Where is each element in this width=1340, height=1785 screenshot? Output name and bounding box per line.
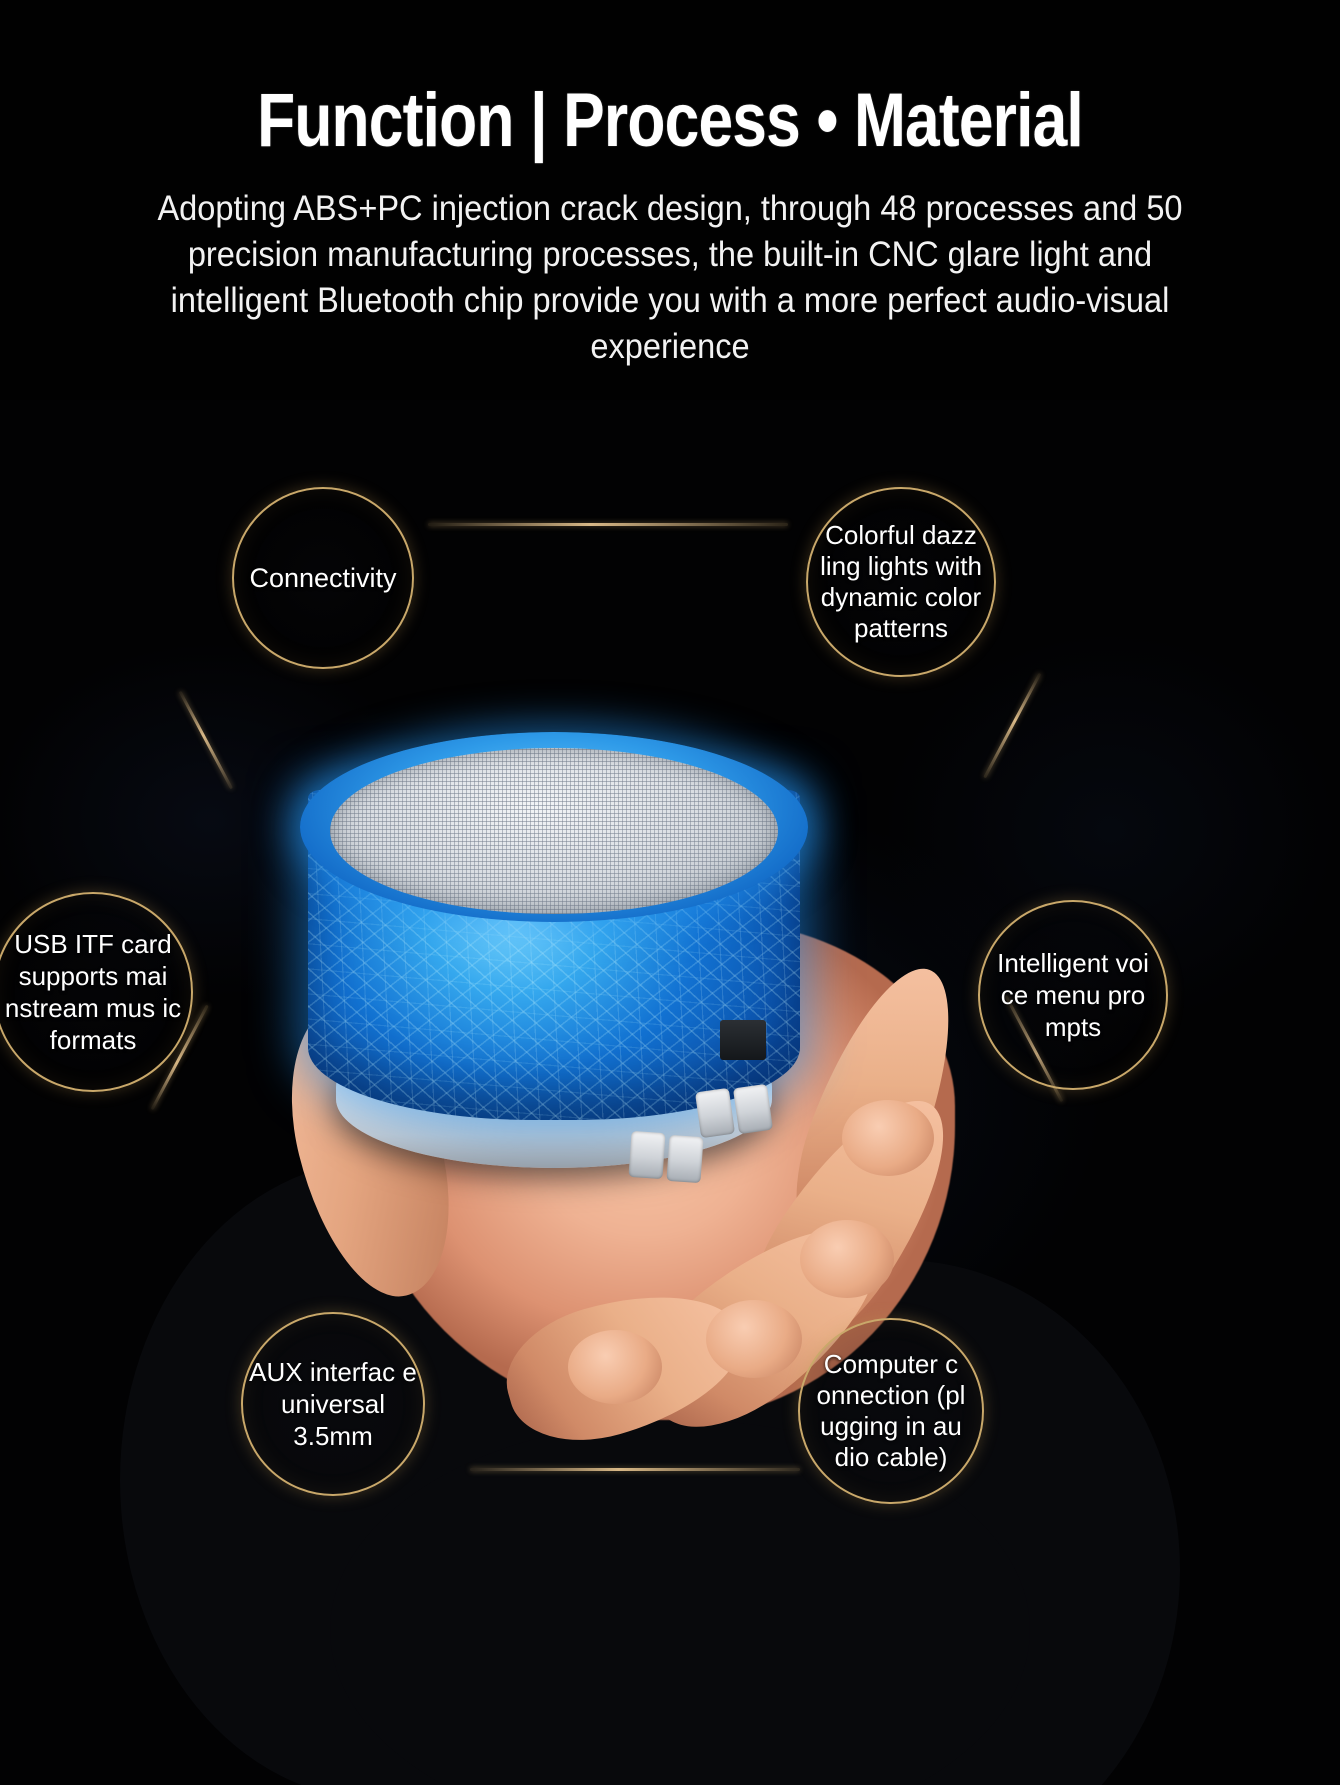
speaker-button — [628, 1131, 665, 1179]
page-subtitle: Adopting ABS+PC injection crack design, … — [145, 186, 1196, 370]
callout-label: Colorful dazz ling lights with dynamic c… — [808, 520, 994, 644]
callout-usb-tf-card[interactable]: USB ITF card supports mai nstream mus ic… — [0, 892, 193, 1092]
hand-fingertip — [842, 1100, 934, 1176]
connector-line — [470, 1468, 800, 1471]
callout-label: USB ITF card supports mai nstream mus ic… — [0, 928, 191, 1056]
speaker-port — [720, 1020, 766, 1060]
product-photo-stage — [0, 400, 1340, 1785]
hand-fingertip — [568, 1330, 662, 1404]
callout-colorful-lights[interactable]: Colorful dazz ling lights with dynamic c… — [806, 487, 996, 677]
callout-label: AUX interfac e universal 3.5mm — [243, 1356, 423, 1452]
speaker-grille — [330, 748, 778, 914]
page-title: Function | Process • Material — [121, 78, 1220, 164]
hand-fingertip — [706, 1300, 802, 1378]
callout-label: Computer c onnection (pl ugging in au di… — [800, 1349, 982, 1473]
connector-line — [428, 523, 788, 526]
callout-connectivity[interactable]: Connectivity — [232, 487, 414, 669]
speaker-button — [733, 1084, 773, 1134]
callout-voice-prompts[interactable]: Intelligent voi ce menu pro mpts — [978, 900, 1168, 1090]
callout-computer-connect[interactable]: Computer c onnection (pl ugging in au di… — [798, 1318, 984, 1504]
speaker-button — [666, 1135, 703, 1183]
callout-label: Connectivity — [234, 562, 412, 595]
callout-aux-interface[interactable]: AUX interfac e universal 3.5mm — [241, 1312, 425, 1496]
bluetooth-speaker — [300, 620, 820, 1160]
callout-label: Intelligent voi ce menu pro mpts — [980, 947, 1166, 1043]
header: Function | Process • Material Adopting A… — [0, 0, 1340, 370]
speaker-button — [695, 1088, 735, 1138]
hand-fingertip — [800, 1220, 894, 1298]
